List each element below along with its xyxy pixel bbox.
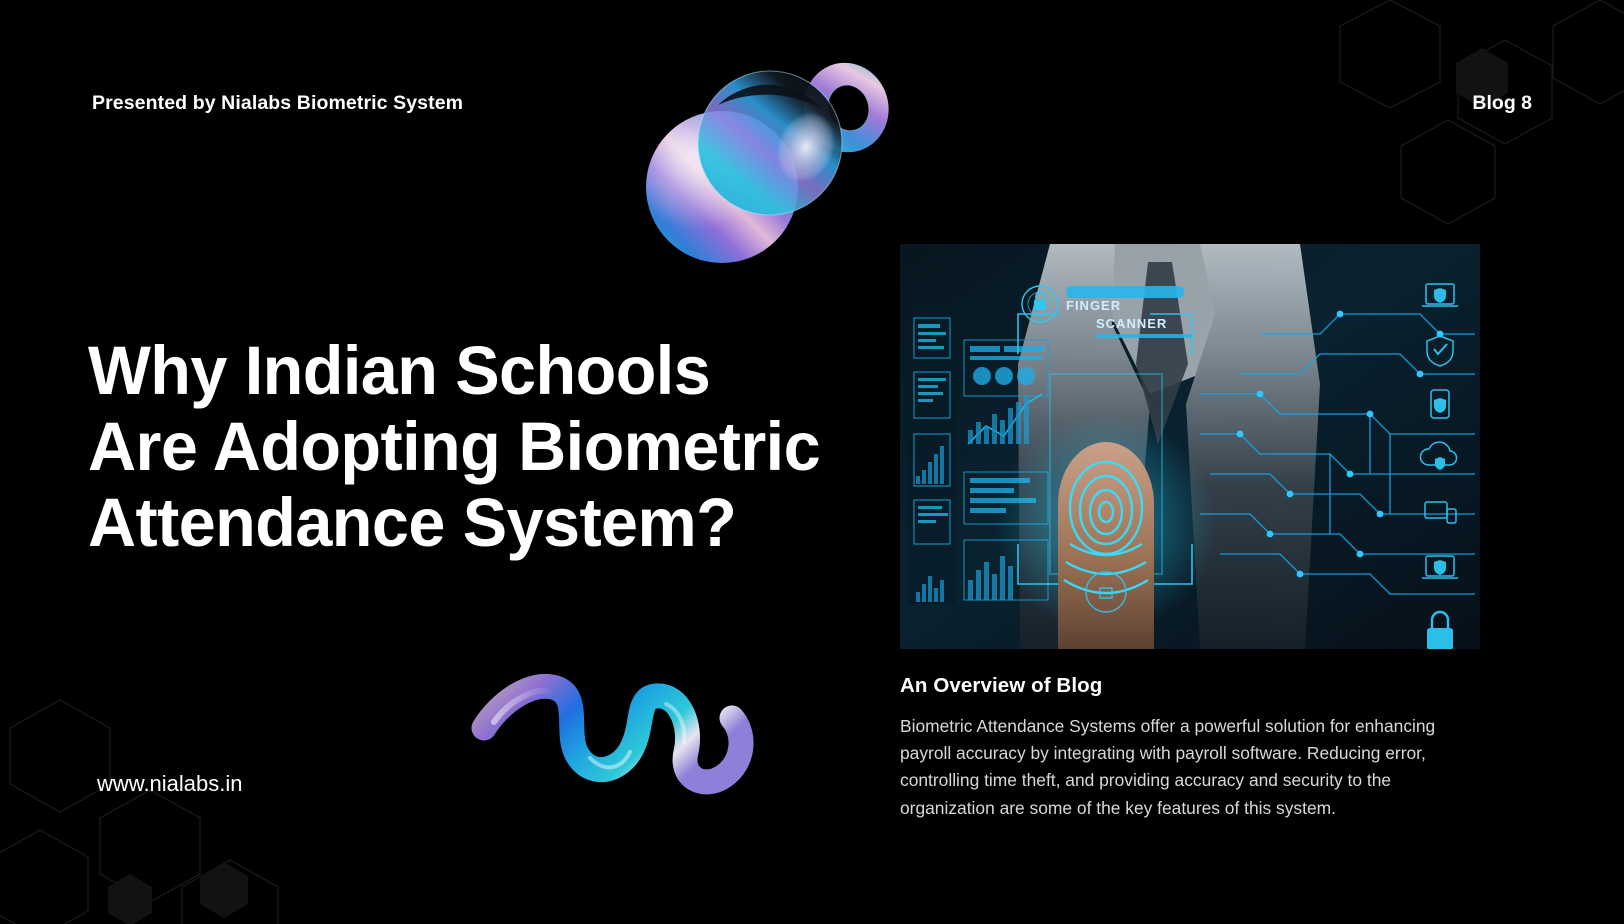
blog-number-label: Blog 8 (1472, 92, 1532, 115)
iridescent-spheres-decoration (610, 35, 890, 280)
overview-heading: An Overview of Blog (900, 674, 1480, 698)
svg-text:SCANNER: SCANNER (1096, 316, 1167, 331)
overview-paragraph: Biometric Attendance Systems offer a pow… (900, 713, 1480, 822)
biometric-scanner-image: FINGER SCANNER (900, 244, 1480, 649)
presented-by-label: Presented by Nialabs Biometric System (92, 92, 463, 115)
headline-line-2: Are Adopting Biometric (88, 409, 860, 485)
overview-panel: FINGER SCANNER (900, 244, 1480, 822)
website-url[interactable]: www.nialabs.in (97, 771, 243, 797)
page-title: Why Indian Schools Are Adopting Biometri… (88, 333, 860, 561)
headline-line-1: Why Indian Schools (88, 333, 860, 409)
iridescent-helix-decoration (460, 630, 780, 820)
slide-header: Presented by Nialabs Biometric System Bl… (0, 92, 1624, 126)
svg-text:FINGER: FINGER (1066, 298, 1121, 313)
headline-line-3: Attendance System? (88, 485, 860, 561)
